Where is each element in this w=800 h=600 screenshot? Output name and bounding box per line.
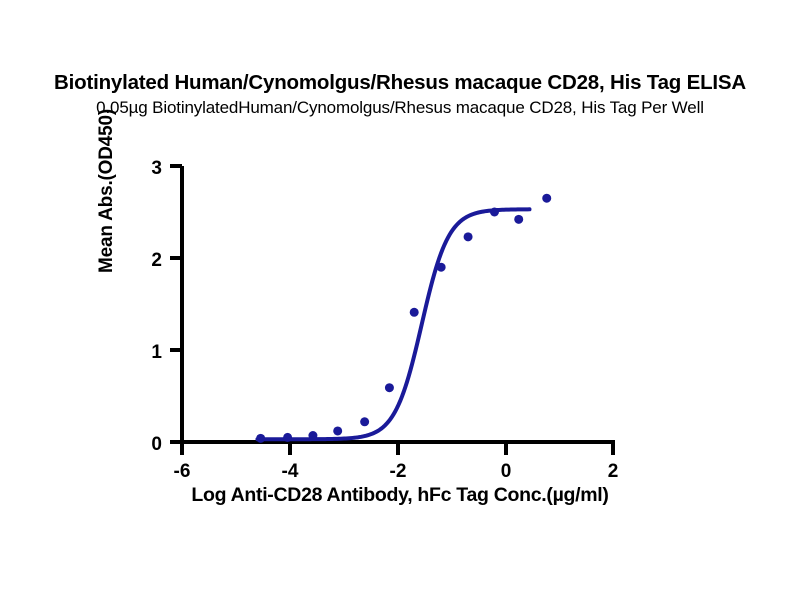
x-tick-label: -6 [174, 461, 191, 482]
data-point [490, 208, 499, 217]
data-point [514, 215, 523, 224]
y-tick-label: 3 [151, 158, 162, 179]
axis-spines [180, 166, 615, 442]
data-point [437, 263, 446, 272]
data-point [308, 431, 317, 440]
x-axis-ticks: -6 -4 -2 0 2 [174, 442, 619, 482]
y-tick-label: 2 [151, 250, 162, 271]
x-tick-label: -2 [390, 461, 407, 482]
fit-curve [257, 209, 529, 439]
data-point [385, 383, 394, 392]
x-tick-label: 0 [501, 461, 512, 482]
data-point-series [256, 194, 551, 443]
data-point [283, 433, 292, 442]
y-tick-label: 1 [151, 342, 162, 363]
plot-area: 3 2 1 0 -6 -4 -2 0 2 [0, 0, 800, 600]
data-point [360, 417, 369, 426]
data-point [464, 232, 473, 241]
x-tick-label: -4 [282, 461, 299, 482]
y-tick-label: 0 [151, 434, 162, 455]
data-point [333, 426, 342, 435]
elisa-chart-figure: Biotinylated Human/Cynomolgus/Rhesus mac… [0, 0, 800, 600]
y-axis-ticks: 3 2 1 0 [151, 158, 182, 455]
data-point [542, 194, 551, 203]
data-point [410, 308, 419, 317]
data-point [256, 434, 265, 443]
x-tick-label: 2 [608, 461, 619, 482]
